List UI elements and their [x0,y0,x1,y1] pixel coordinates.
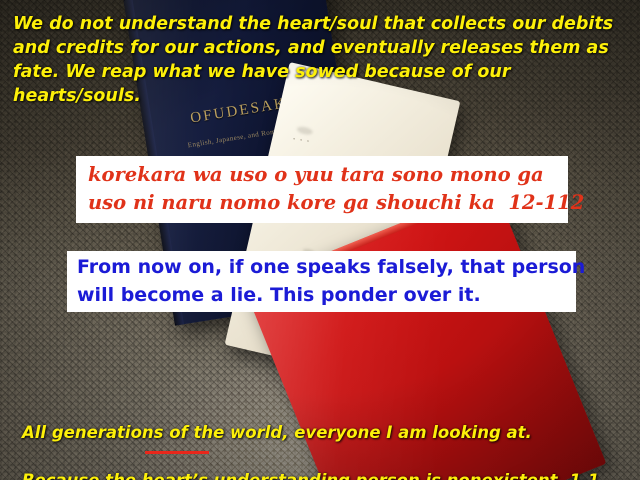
red-underline-annotation [145,451,209,454]
bottom-caption-line-1: All generations of the world, everyone I… [22,421,632,445]
bottom-caption-line-2: Because the heart’s understanding person… [22,469,632,480]
romaji-text-box: korekara wa uso o yuu tara sono mono ga … [76,156,568,223]
english-line-2: will become a lie. This ponder over it. [77,281,576,309]
top-caption: We do not understand the heart/soul that… [13,12,631,108]
romaji-line-2: uso ni naru nomo kore ga shouchi ka 12-1… [88,189,568,217]
english-text-box: From now on, if one speaks falsely, that… [67,251,576,312]
romaji-line-1: korekara wa uso o yuu tara sono mono ga [88,161,568,189]
english-line-1: From now on, if one speaks falsely, that… [77,253,576,281]
bottom-caption: All generations of the world, everyone I… [22,397,632,480]
slide-canvas: OFUDESAKI English, Japanese, and Romaniz… [0,0,640,480]
